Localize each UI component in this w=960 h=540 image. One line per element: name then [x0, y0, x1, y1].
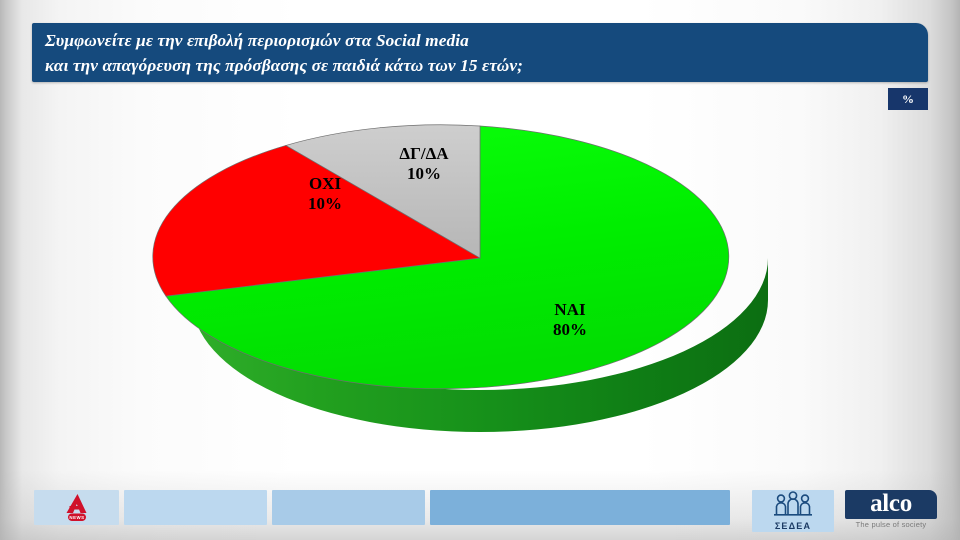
alco-wordmark: alco — [845, 489, 937, 519]
percent-unit-badge: % — [888, 88, 928, 110]
pie-chart-svg — [0, 95, 960, 470]
alpha-news-logo: NEWS — [60, 493, 94, 523]
footer-bar-4 — [430, 490, 730, 525]
alco-tagline: The pulse of society — [845, 520, 937, 529]
title-banner: Συμφωνείτε με την επιβολή περιορισμών στ… — [32, 23, 928, 82]
alco-logo: alco The pulse of society — [845, 490, 937, 532]
pie-chart: ΔΓ/ΔΑ 10% ΟΧΙ 10% ΝΑΙ 80% — [0, 95, 960, 470]
alco-logo-box: alco — [845, 490, 937, 519]
pie-label-nai: ΝΑΙ 80% — [513, 300, 627, 340]
pie-label-oxi: ΟΧΙ 10% — [283, 174, 367, 214]
footer-bar-3 — [272, 490, 425, 525]
sedea-people-icon — [752, 490, 834, 520]
footer-bar-2 — [124, 490, 267, 525]
page-title: Συμφωνείτε με την επιβολή περιορισμών στ… — [45, 28, 918, 78]
pie-label-dgda: ΔΓ/ΔΑ 10% — [376, 144, 472, 184]
footer: NEWS ΣΕΔΕΑ alco The pulse — [0, 480, 960, 540]
sedea-label: ΣΕΔΕΑ — [752, 521, 834, 531]
slide-canvas: Συμφωνείτε με την επιβολή περιορισμών στ… — [0, 0, 960, 540]
sedea-logo: ΣΕΔΕΑ — [752, 490, 834, 532]
svg-text:NEWS: NEWS — [69, 515, 84, 520]
